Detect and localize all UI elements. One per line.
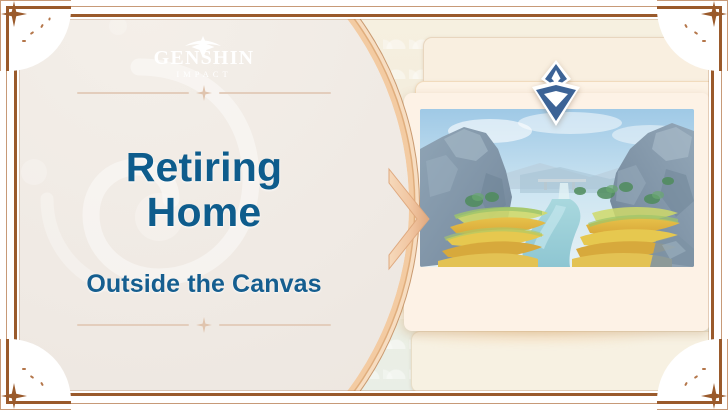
chevron-right-ornament (385, 167, 433, 271)
svg-text:GENSHIN: GENSHIN (154, 47, 255, 69)
genshin-article-banner: GENSHIN IMPACT Retiring Home Outside the… (0, 0, 728, 410)
banner-artwork: GENSHIN IMPACT Retiring Home Outside the… (19, 19, 709, 391)
divider-line-left (77, 324, 189, 326)
page-subtitle: Outside the Canvas (34, 269, 374, 299)
left-panel-content: GENSHIN IMPACT Retiring Home Outside the… (19, 19, 389, 391)
genshin-landscape-screenshot (420, 109, 694, 267)
page-title: Retiring Home (39, 145, 369, 235)
divider-line-right (219, 92, 331, 94)
genshin-impact-logo: GENSHIN IMPACT (129, 33, 279, 81)
page-title-line-2: Home (39, 190, 369, 235)
divider-bottom (69, 317, 339, 331)
svg-text:IMPACT: IMPACT (176, 69, 231, 79)
inazuma-region-emblem (524, 57, 588, 129)
divider-line-left (77, 92, 189, 94)
page-title-line-1: Retiring (39, 145, 369, 190)
four-point-star-divider (196, 317, 212, 338)
divider-top (69, 85, 339, 99)
four-point-star-divider (196, 85, 212, 106)
divider-line-right (219, 324, 331, 326)
